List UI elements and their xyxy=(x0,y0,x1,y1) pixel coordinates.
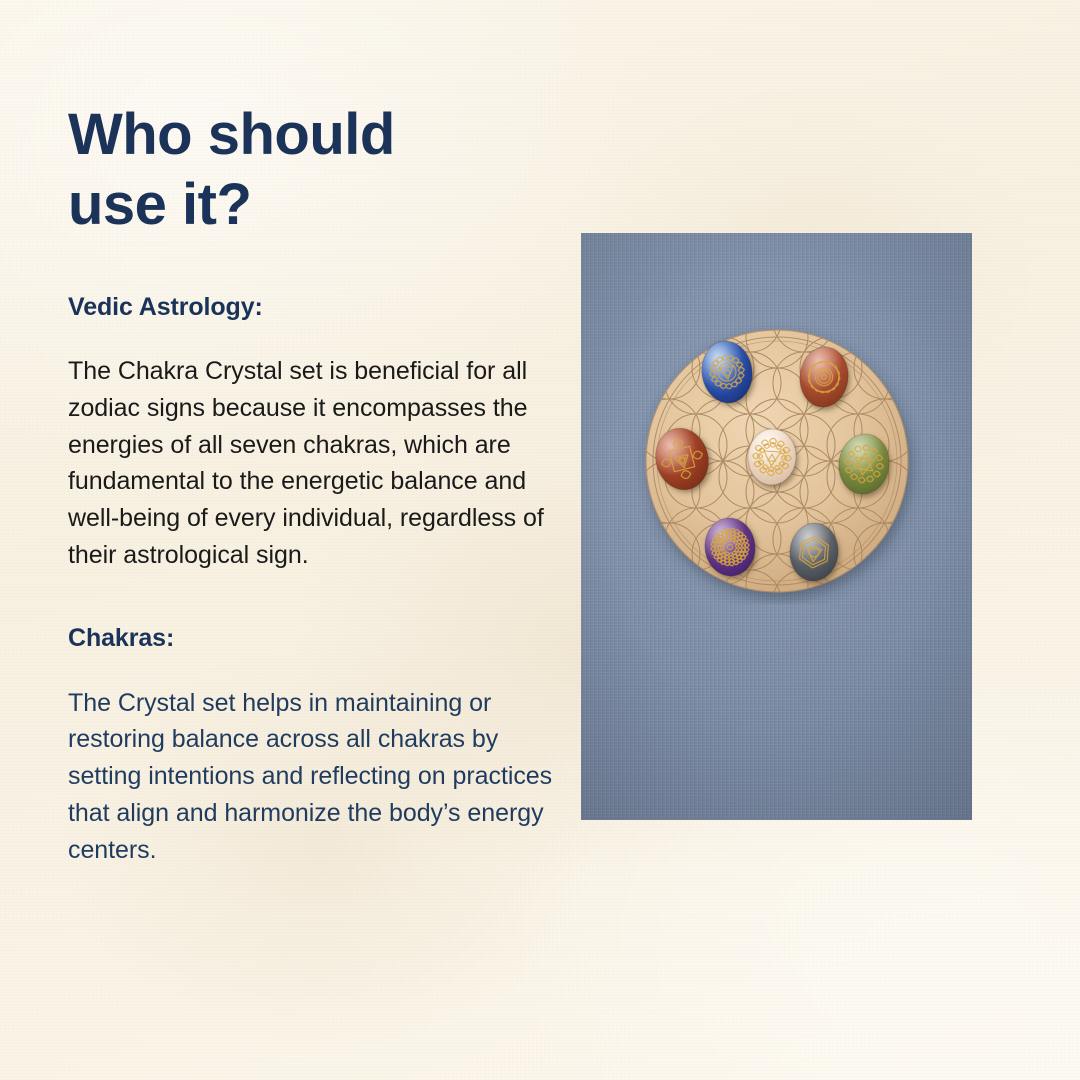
chakra-crystal-set-photo xyxy=(581,233,972,820)
text-column: Who should use it? Vedic Astrology: The … xyxy=(68,100,558,868)
section-heading-chakras: Chakras: xyxy=(68,624,558,653)
page-title: Who should use it? xyxy=(68,100,558,239)
section-heading-vedic-astrology: Vedic Astrology: xyxy=(68,293,558,322)
section-body-chakras: The Crystal set helps in maintaining or … xyxy=(68,685,558,869)
section-body-vedic-astrology: The Chakra Crystal set is beneficial for… xyxy=(68,353,558,574)
photo-vignette xyxy=(581,233,972,820)
